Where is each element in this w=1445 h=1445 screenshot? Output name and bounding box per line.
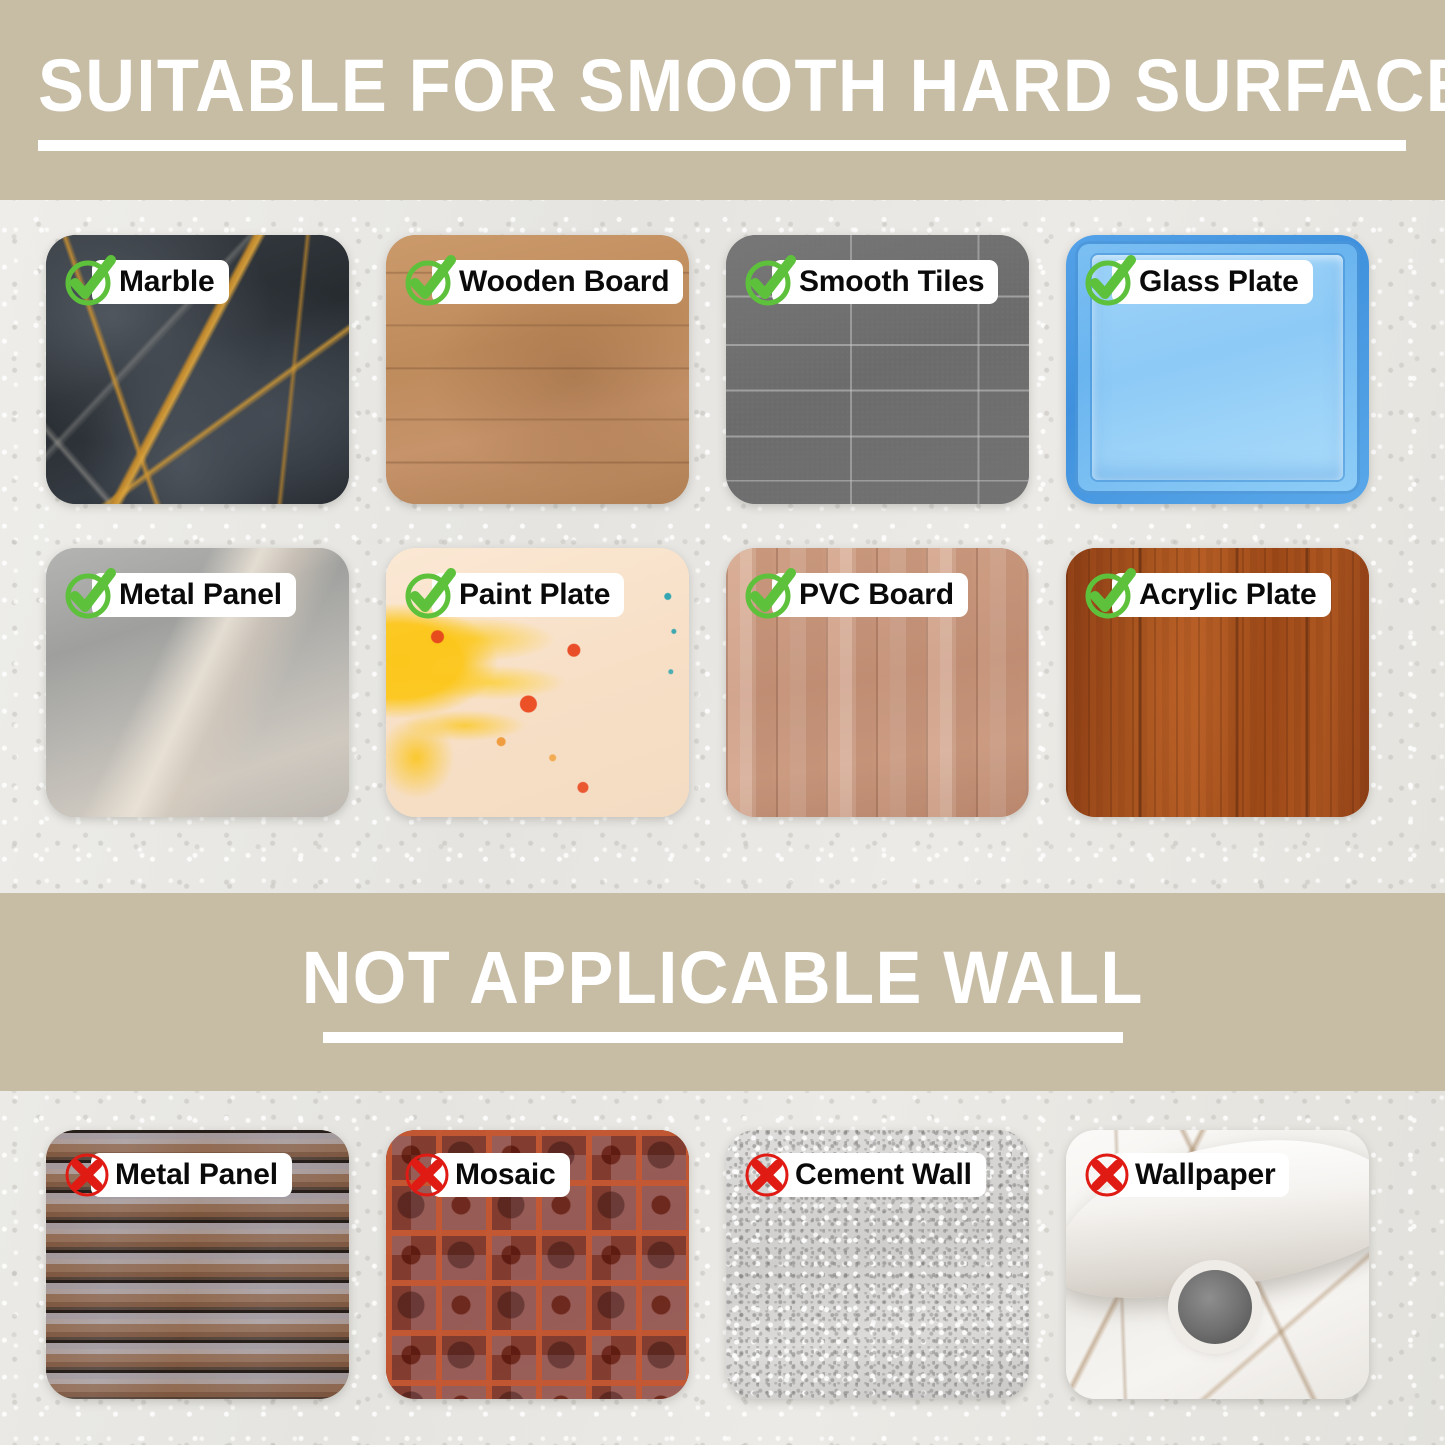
- surface-label: Glass Plate: [1112, 260, 1313, 304]
- surface-label: PVC Board: [772, 573, 968, 617]
- surface-tile[interactable]: Paint Plate: [386, 548, 689, 817]
- cross-circle-icon: [744, 1152, 790, 1198]
- surface-label: Paint Plate: [432, 573, 624, 617]
- check-circle-icon: [1084, 570, 1134, 620]
- surface-label: Metal Panel: [91, 1153, 292, 1197]
- suitable-surface-grid: MarbleWooden BoardSmooth TilesGlass Plat…: [46, 235, 1402, 817]
- surface-label: Cement Wall: [771, 1153, 986, 1197]
- surface-label: Wallpaper: [1111, 1153, 1289, 1197]
- surface-tile[interactable]: Cement Wall: [726, 1130, 1029, 1399]
- check-circle-icon: [64, 257, 114, 307]
- surface-badge: Paint Plate: [404, 570, 624, 620]
- surface-badge: Wooden Board: [404, 257, 683, 307]
- surface-tile[interactable]: Marble: [46, 235, 349, 504]
- cross-circle-icon: [1084, 1152, 1130, 1198]
- surface-label: Wooden Board: [432, 260, 683, 304]
- surface-badge: Wallpaper: [1084, 1152, 1289, 1198]
- check-circle-icon: [64, 570, 114, 620]
- surface-tile[interactable]: PVC Board: [726, 548, 1029, 817]
- surface-badge: Cement Wall: [744, 1152, 986, 1198]
- surface-tile[interactable]: Metal Panel: [46, 548, 349, 817]
- surface-badge: Glass Plate: [1084, 257, 1313, 307]
- suitable-banner: SUITABLE FOR SMOOTH HARD SURFACE: [0, 0, 1445, 200]
- surface-badge: Smooth Tiles: [744, 257, 998, 307]
- surface-badge: Metal Panel: [64, 570, 296, 620]
- check-circle-icon: [404, 257, 454, 307]
- surface-label: Acrylic Plate: [1112, 573, 1331, 617]
- suitable-banner-underline: [38, 140, 1406, 151]
- surface-badge: Metal Panel: [64, 1152, 292, 1198]
- surface-label: Mosaic: [431, 1153, 570, 1197]
- surface-tile[interactable]: Metal Panel: [46, 1130, 349, 1399]
- cross-circle-icon: [404, 1152, 450, 1198]
- not-applicable-banner: NOT APPLICABLE WALL: [0, 893, 1445, 1091]
- not-applicable-surface-grid: Metal PanelMosaicCement WallWallpaper: [46, 1130, 1402, 1399]
- suitable-banner-title: SUITABLE FOR SMOOTH HARD SURFACE: [38, 49, 1445, 123]
- check-circle-icon: [1084, 257, 1134, 307]
- not-applicable-banner-underline: [323, 1032, 1123, 1043]
- surface-tile[interactable]: Wooden Board: [386, 235, 689, 504]
- surface-tile[interactable]: Glass Plate: [1066, 235, 1369, 504]
- surface-badge: Mosaic: [404, 1152, 570, 1198]
- surface-badge: Marble: [64, 257, 229, 307]
- check-circle-icon: [744, 257, 794, 307]
- check-circle-icon: [404, 570, 454, 620]
- surface-tile[interactable]: Mosaic: [386, 1130, 689, 1399]
- surface-tile[interactable]: Wallpaper: [1066, 1130, 1369, 1399]
- check-circle-icon: [744, 570, 794, 620]
- surface-tile[interactable]: Smooth Tiles: [726, 235, 1029, 504]
- surface-tile[interactable]: Acrylic Plate: [1066, 548, 1369, 817]
- surface-label: Smooth Tiles: [772, 260, 998, 304]
- surface-label: Metal Panel: [92, 573, 296, 617]
- surface-badge: Acrylic Plate: [1084, 570, 1331, 620]
- not-applicable-banner-title: NOT APPLICABLE WALL: [301, 941, 1143, 1015]
- cross-circle-icon: [64, 1152, 110, 1198]
- surface-badge: PVC Board: [744, 570, 968, 620]
